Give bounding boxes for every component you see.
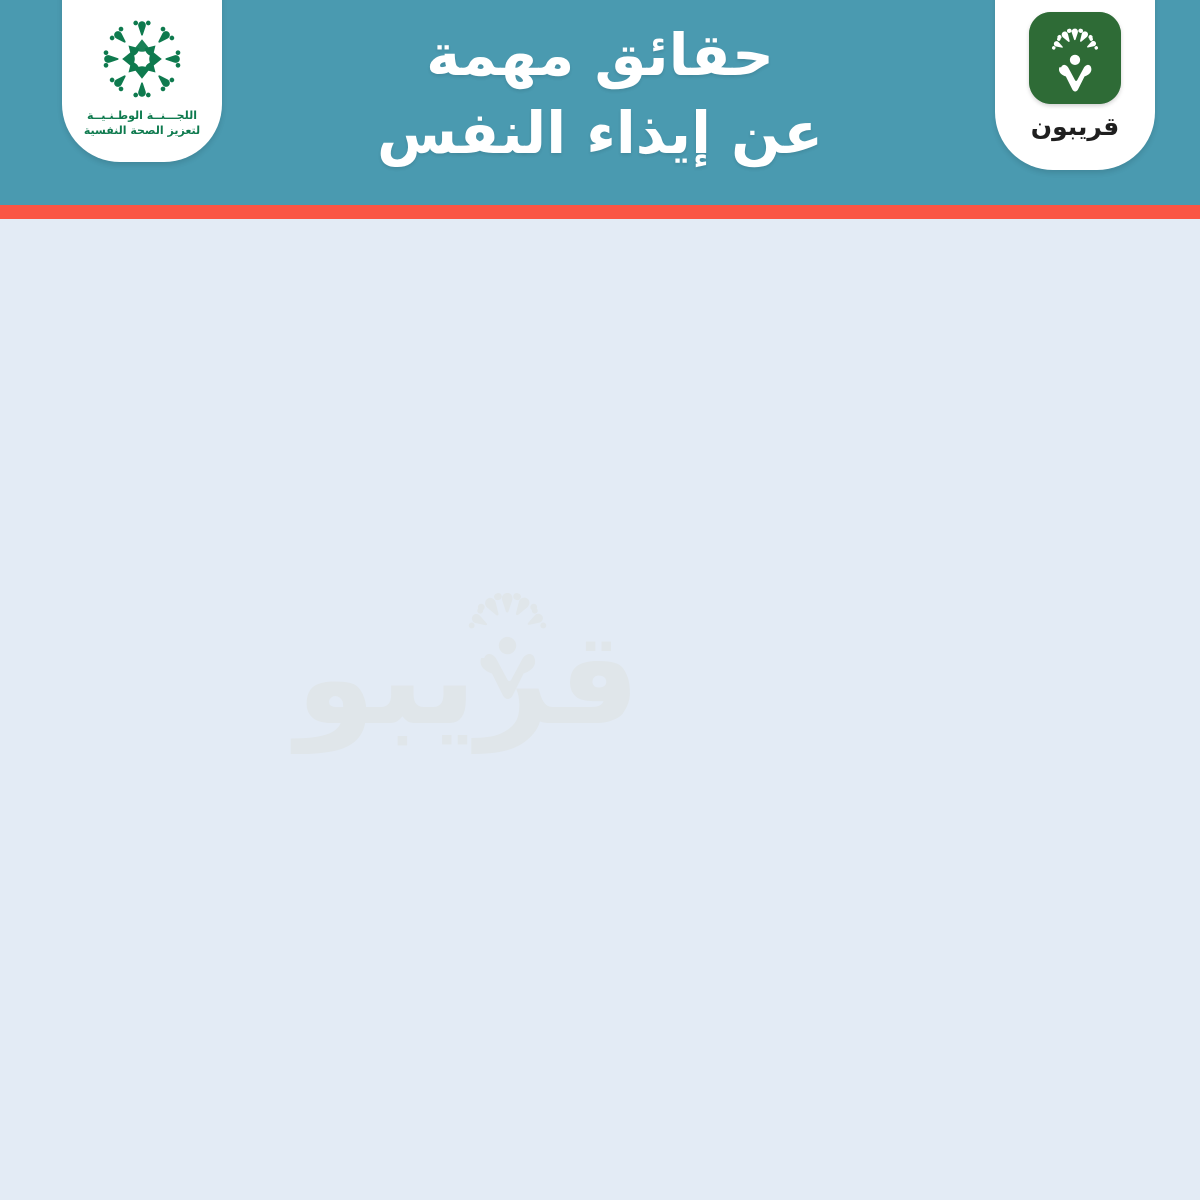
page-title-line-1: حقائق مهمة [300,16,900,94]
nc-caption-line-1: اللجـــنــة الوطـنـيــة [62,108,222,123]
page-title-line-2: عن إيذاء النفس [300,94,900,172]
watermark-text: قريبو [290,605,640,754]
qareboon-logo-card: قريبون [995,0,1155,170]
nc-caption-line-2: لتعزيز الصحة النفسية [62,123,222,138]
header-accent-stripe [0,205,1200,219]
national-committee-mental-health-logo [97,14,187,104]
qareboon-app-icon [1029,12,1121,104]
qareboon-watermark-logo: قريبو [0,555,1200,775]
infographic-canvas: اللجـــنــة الوطـنـيــة لتعزيز الصحة الن… [0,0,1200,1200]
national-committee-logo-card: اللجـــنــة الوطـنـيــة لتعزيز الصحة الن… [62,0,222,162]
national-committee-caption: اللجـــنــة الوطـنـيــة لتعزيز الصحة الن… [62,108,222,138]
qareboon-caption: قريبون [995,112,1155,141]
page-title: حقائق مهمة عن إيذاء النفس [300,16,900,191]
